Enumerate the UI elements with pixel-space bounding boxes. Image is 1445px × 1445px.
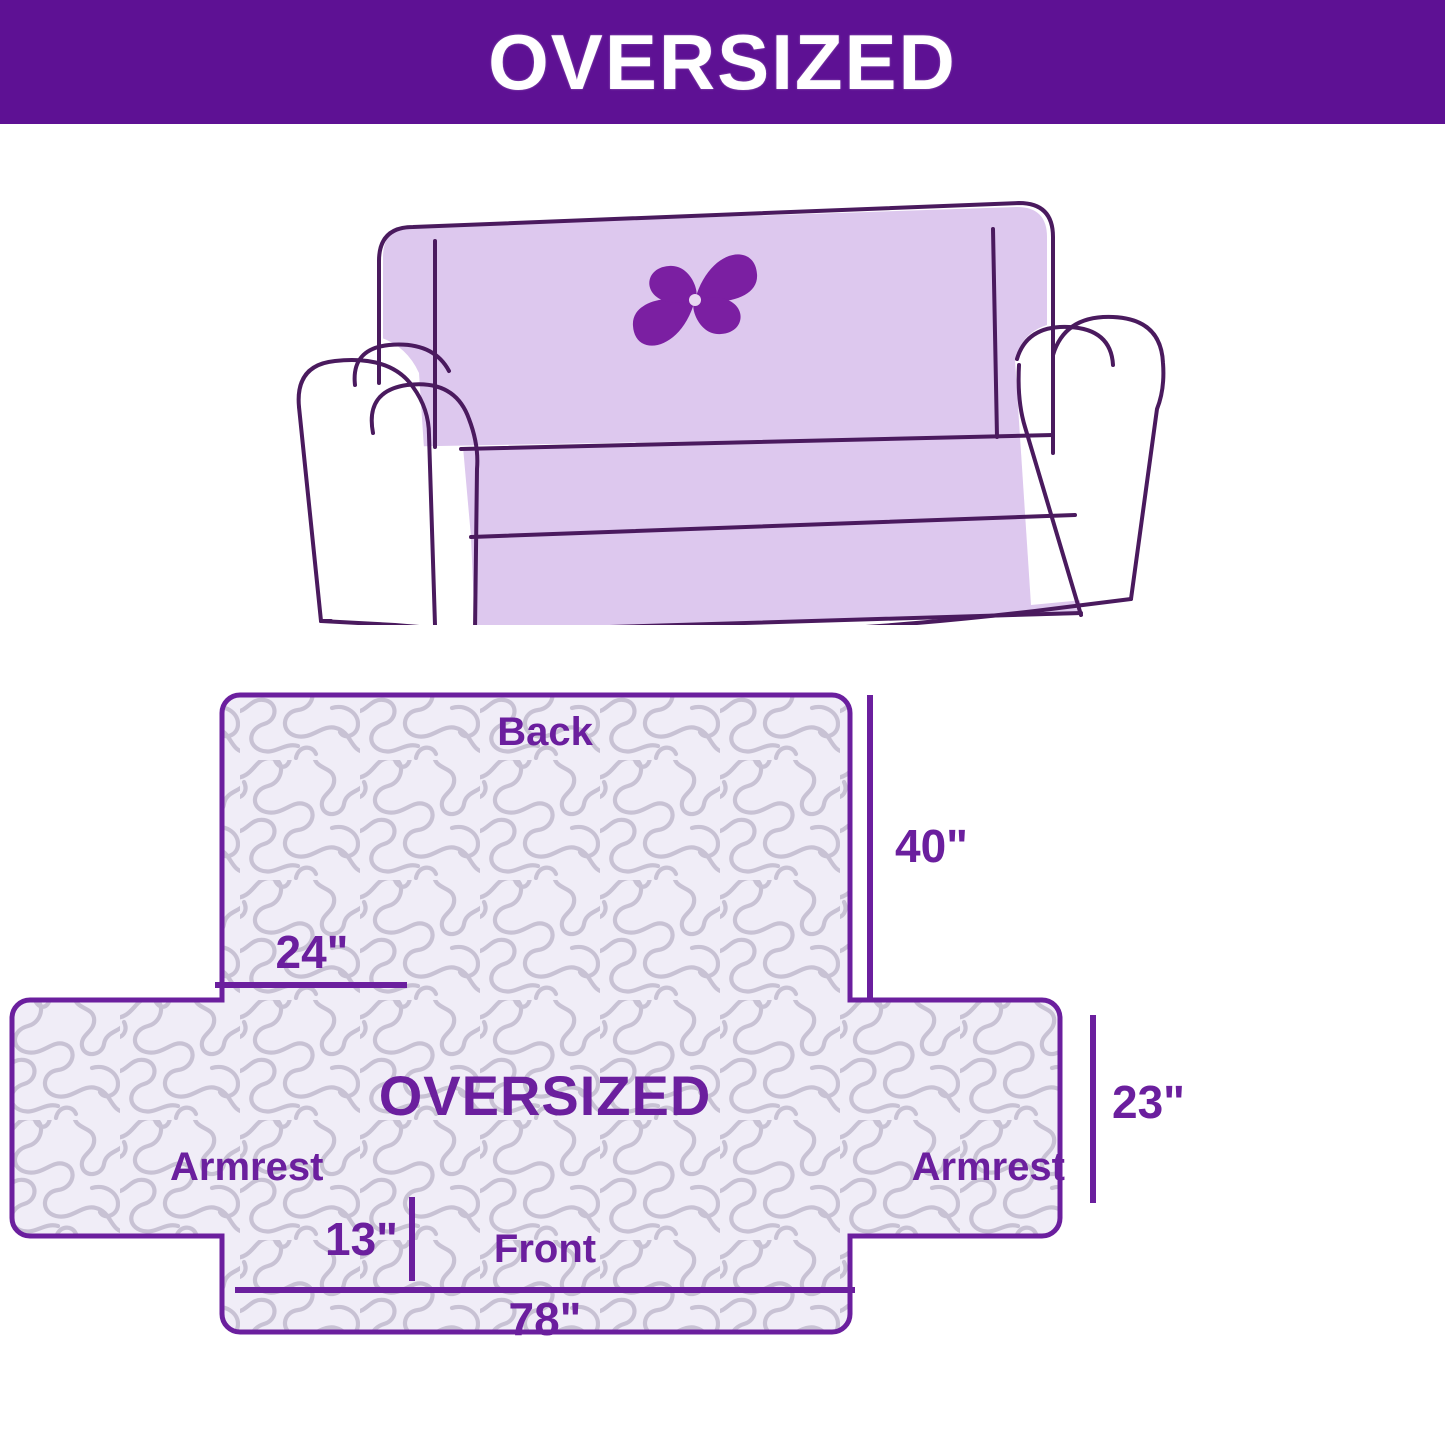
label-armrest-right: Armrest xyxy=(912,1145,1065,1189)
dimension-value-24: 24" xyxy=(276,926,349,978)
sofa-illustration xyxy=(275,185,1195,625)
dimension-diagram: Back 24" 40" OVERSIZED Armrest Armrest 2… xyxy=(0,640,1445,1340)
product-size-chart: OVERSIZED xyxy=(0,0,1445,1445)
label-back: Back xyxy=(497,710,593,754)
dimension-value-23: 23" xyxy=(1112,1076,1185,1128)
sofa-right-arm-fill xyxy=(1015,322,1135,605)
sofa-left-arm-fill xyxy=(299,333,435,625)
banner-title: OVERSIZED xyxy=(488,23,957,101)
dimension-value-40: 40" xyxy=(895,820,968,872)
dimension-value-78: 78" xyxy=(509,1293,582,1340)
slipcover-outline-shape xyxy=(0,640,1445,1340)
label-armrest-left: Armrest xyxy=(170,1145,323,1189)
dimension-value-13: 13" xyxy=(325,1213,398,1265)
label-front: Front xyxy=(494,1227,596,1271)
center-size-label: OVERSIZED xyxy=(379,1064,712,1127)
header-banner: OVERSIZED xyxy=(0,0,1445,124)
